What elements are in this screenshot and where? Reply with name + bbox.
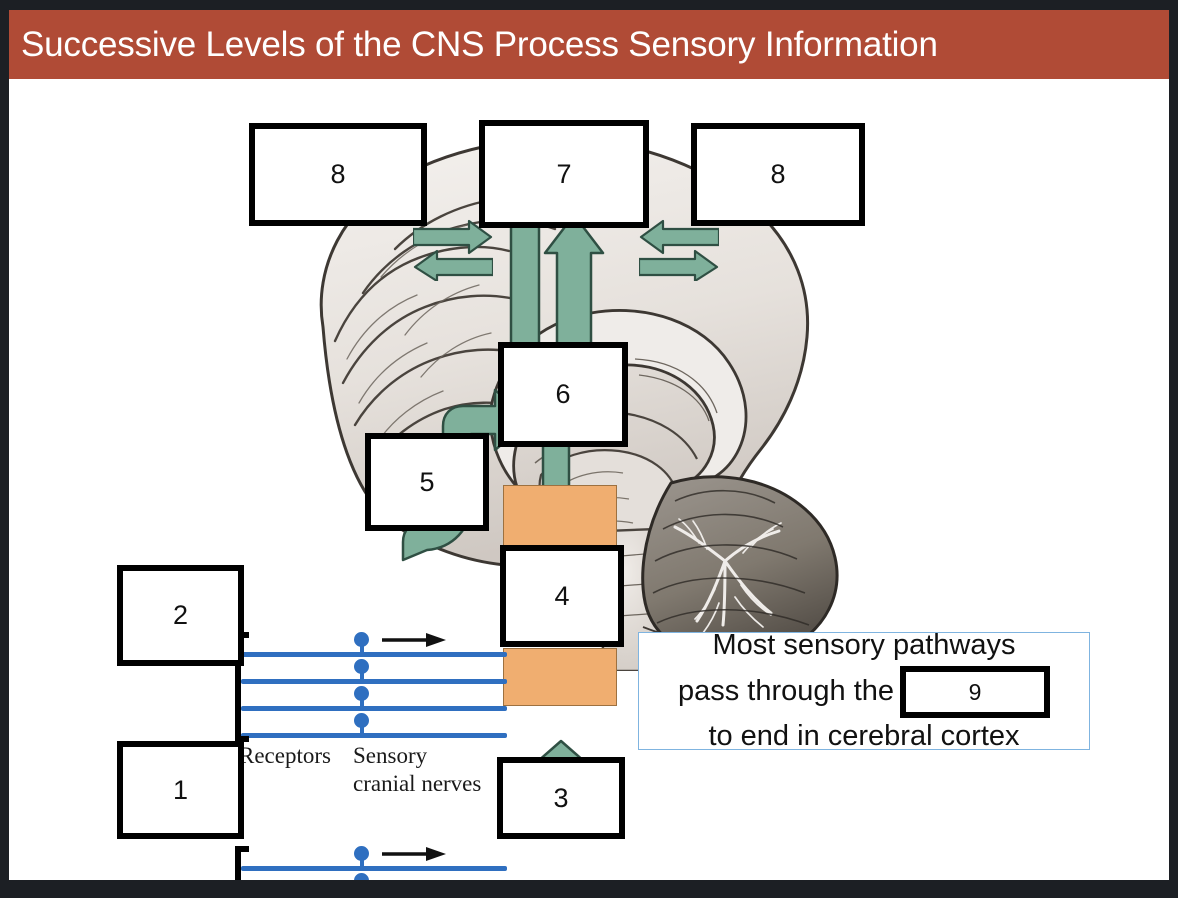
answer-box-8-left[interactable]: 8	[249, 123, 427, 226]
label-receptors-upper: Receptors	[239, 743, 331, 769]
answer-box-8-right[interactable]: 8	[691, 123, 865, 226]
nerve-cell-body	[354, 873, 369, 880]
answer-box-9[interactable]: 9	[900, 666, 1050, 718]
nerve-cell-body	[354, 713, 369, 728]
arrow-cortex-right-bidirectional	[639, 219, 719, 281]
nerve-line	[241, 866, 507, 871]
answer-box-5[interactable]: 5	[365, 433, 489, 531]
answer-box-1[interactable]: 1	[117, 741, 244, 839]
bottom-bar	[0, 880, 1178, 898]
nerve-line	[241, 652, 507, 657]
answer-box-6[interactable]: 6	[498, 342, 628, 447]
arrow-cortex-left-bidirectional	[413, 219, 493, 281]
answer-box-7[interactable]: 7	[479, 120, 649, 228]
answer-box-4[interactable]: 4	[500, 545, 624, 647]
callout-line-3: to end in cerebral cortex	[708, 717, 1019, 756]
direction-arrow-icon	[382, 631, 446, 649]
answer-box-2[interactable]: 2	[117, 565, 244, 666]
label-sensory-cranial-line2: cranial nerves	[353, 771, 481, 797]
slide-frame: Successive Levels of the CNS Process Sen…	[9, 10, 1169, 880]
callout-line-2: pass through the 9	[678, 665, 1050, 717]
nerve-cell-body	[354, 659, 369, 674]
nerve-line	[241, 706, 507, 711]
nerve-cell-body	[354, 686, 369, 701]
nerve-cell-body	[354, 632, 369, 647]
direction-arrow-icon	[382, 845, 446, 863]
title-bar: Successive Levels of the CNS Process Sen…	[9, 10, 1169, 79]
slide-root: Successive Levels of the CNS Process Sen…	[0, 0, 1178, 898]
callout-box: Most sensory pathways pass through the 9…	[638, 632, 1090, 750]
cranial-nerve-group	[241, 627, 507, 727]
page-title: Successive Levels of the CNS Process Sen…	[21, 25, 938, 65]
label-sensory-cranial-line1: Sensory	[353, 743, 427, 769]
peripheral-nerve-group	[241, 841, 507, 880]
brainstem-block-lower	[503, 648, 617, 706]
callout-line-2-text: pass through the	[678, 672, 894, 711]
nerve-line	[241, 679, 507, 684]
nerve-cell-body	[354, 846, 369, 861]
callout-line-1: Most sensory pathways	[712, 626, 1015, 665]
answer-box-3[interactable]: 3	[497, 757, 625, 839]
receptor-bracket-lower	[235, 846, 249, 880]
nerve-line	[241, 733, 507, 738]
diagram-canvas: Receptors Sensory cranial nerves Recepto…	[9, 79, 1169, 880]
